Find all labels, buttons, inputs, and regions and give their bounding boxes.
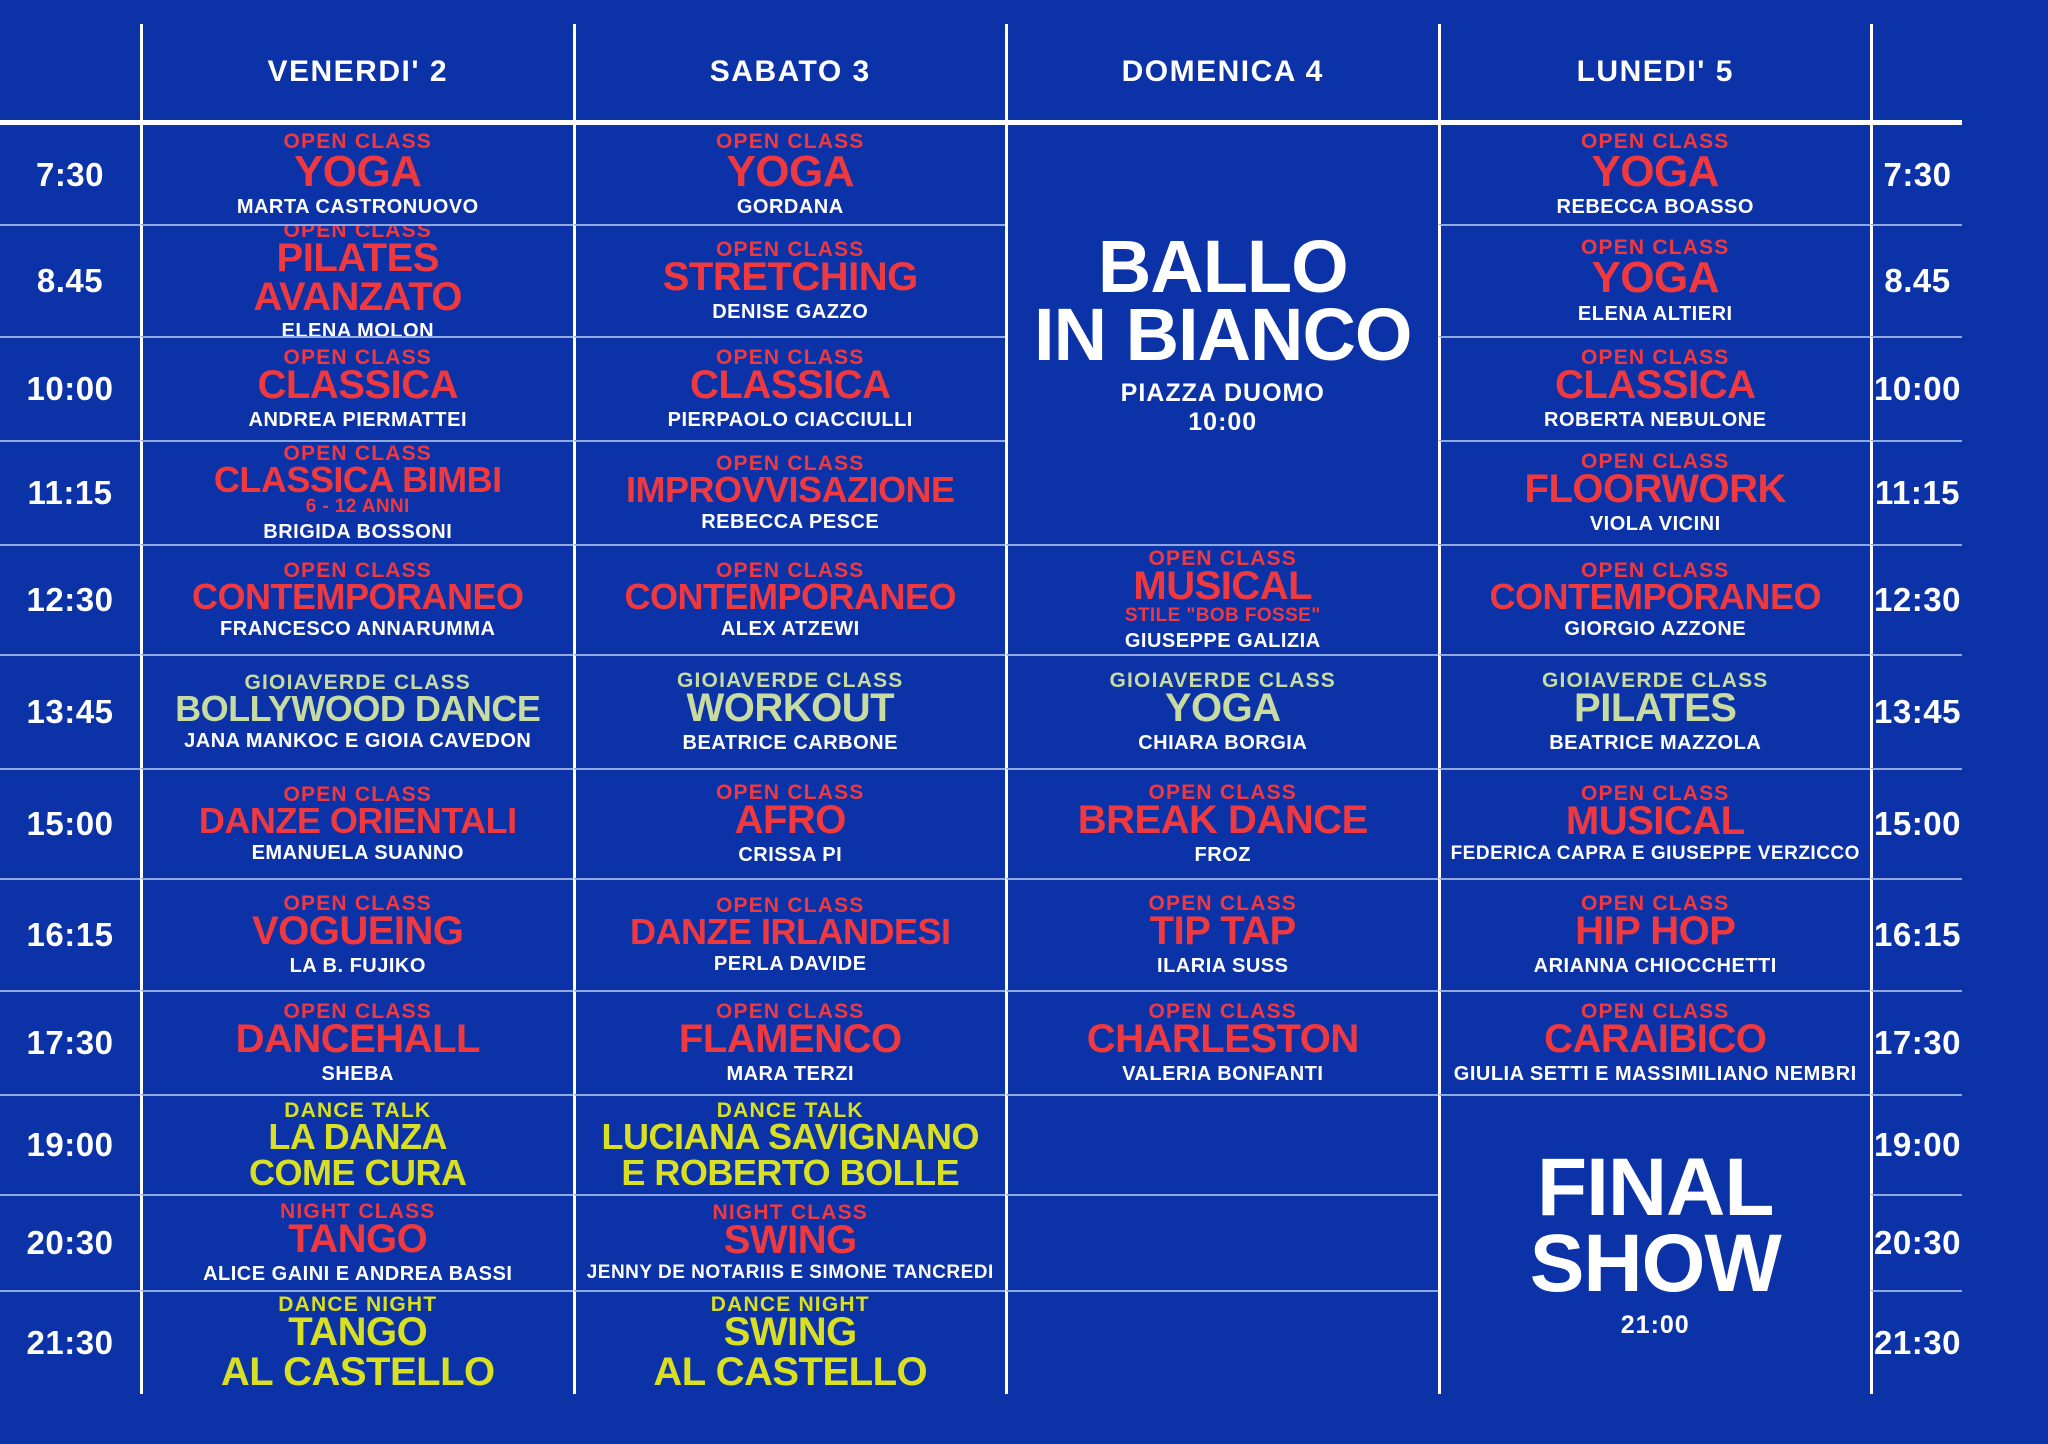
time-label-left: 17:30 bbox=[0, 990, 140, 1094]
class-cell: DANCE NIGHTSWINGAL CASTELLO bbox=[573, 1290, 1006, 1394]
big-title-line1: BALLO bbox=[1098, 233, 1348, 301]
day-header-label: VENERDI' 2 bbox=[267, 55, 448, 89]
time-text: 21:30 bbox=[27, 1324, 114, 1362]
day-header-2: SABATO 3 bbox=[573, 24, 1006, 120]
class-cell: OPEN CLASSPILATESAVANZATOELENA MOLON bbox=[140, 224, 573, 336]
time-text: 19:00 bbox=[1874, 1126, 1961, 1164]
time-label-left: 20:30 bbox=[0, 1194, 140, 1290]
class-cell: OPEN CLASSCARAIBICOGIULIA SETTI E MASSIM… bbox=[1438, 990, 1871, 1094]
class-title: TANGO bbox=[288, 1220, 427, 1259]
class-title: CARAIBICO bbox=[1544, 1020, 1766, 1059]
big-time: 21:00 bbox=[1621, 1311, 1690, 1340]
class-cell: OPEN CLASSHIP HOPARIANNA CHIOCCHETTI bbox=[1438, 878, 1871, 990]
class-title: LUCIANA SAVIGNANO bbox=[602, 1119, 980, 1154]
class-title: MUSICAL bbox=[1133, 567, 1312, 606]
class-teacher: MARTA CASTRONUOVO bbox=[237, 196, 479, 218]
time-label-left: 13:45 bbox=[0, 654, 140, 768]
time-text: 20:30 bbox=[27, 1224, 114, 1262]
class-title-line2: AL CASTELLO bbox=[221, 1353, 495, 1392]
class-teacher: VALERIA BONFANTI bbox=[1122, 1063, 1323, 1085]
class-title: SWING bbox=[724, 1221, 857, 1260]
class-title: YOGA bbox=[1591, 150, 1719, 193]
time-label-right: 13:45 bbox=[1870, 654, 1962, 768]
class-title: PILATES bbox=[1574, 689, 1736, 728]
class-title: CLASSICA bbox=[258, 366, 458, 405]
class-title: FLAMENCO bbox=[679, 1020, 902, 1059]
class-title: HIP HOP bbox=[1575, 912, 1735, 951]
time-label-right: 15:00 bbox=[1870, 768, 1962, 878]
class-teacher: GIUSEPPE GALIZIA bbox=[1125, 630, 1321, 652]
class-cell: DANCE TALKLUCIANA SAVIGNANOE ROBERTO BOL… bbox=[573, 1094, 1006, 1194]
class-teacher: ELENA MOLON bbox=[281, 320, 434, 336]
class-title: STRETCHING bbox=[663, 258, 918, 297]
class-teacher: SHEBA bbox=[321, 1063, 394, 1085]
class-title: CLASSICA BIMBI bbox=[214, 462, 502, 497]
big-time: 10:00 bbox=[1188, 408, 1257, 437]
class-cell: OPEN CLASSAFROCRISSA PI bbox=[573, 768, 1006, 878]
class-cell: OPEN CLASSYOGAMARTA CASTRONUOVO bbox=[140, 120, 573, 224]
class-teacher: VIOLA VICINI bbox=[1590, 513, 1721, 535]
class-teacher: GIORGIO AZZONE bbox=[1564, 618, 1746, 640]
big-title-line2: IN BIANCO bbox=[1034, 301, 1411, 369]
schedule-grid: VENERDI' 2SABATO 3DOMENICA 4LUNEDI' 57:3… bbox=[0, 24, 1962, 1422]
class-cell: GIOIAVERDE CLASSBOLLYWOOD DANCEJANA MANK… bbox=[140, 654, 573, 768]
class-teacher: CHIARA BORGIA bbox=[1138, 732, 1307, 754]
class-title: SWING bbox=[724, 1313, 857, 1352]
class-teacher: BEATRICE CARBONE bbox=[683, 732, 898, 754]
class-title: WORKOUT bbox=[686, 689, 894, 728]
class-cell: DANCE NIGHTTANGOAL CASTELLO bbox=[140, 1290, 573, 1394]
class-cell: OPEN CLASSFLOORWORKVIOLA VICINI bbox=[1438, 440, 1871, 544]
time-label-right: 8.45 bbox=[1870, 224, 1962, 336]
class-title: LA DANZA bbox=[268, 1119, 447, 1154]
header-corner-right bbox=[1870, 24, 1962, 120]
class-title: YOGA bbox=[1591, 256, 1719, 299]
time-label-right: 10:00 bbox=[1870, 336, 1962, 440]
class-cell: OPEN CLASSIMPROVVISAZIONEREBECCA PESCE bbox=[573, 440, 1006, 544]
time-label-right: 11:15 bbox=[1870, 440, 1962, 544]
day-header-4: LUNEDI' 5 bbox=[1438, 24, 1871, 120]
class-teacher: ILARIA SUSS bbox=[1157, 955, 1288, 977]
class-title: PILATES bbox=[277, 239, 439, 278]
class-teacher: BRIGIDA BOSSONI bbox=[263, 521, 452, 543]
time-text: 7:30 bbox=[36, 156, 104, 194]
class-title: CONTEMPORANEO bbox=[1489, 579, 1821, 614]
class-cell: OPEN CLASSTIP TAPILARIA SUSS bbox=[1005, 878, 1438, 990]
class-title: YOGA bbox=[1165, 689, 1281, 728]
class-title: AFRO bbox=[735, 801, 846, 840]
class-teacher: GORDANA bbox=[737, 196, 844, 218]
class-title: CLASSICA bbox=[1555, 366, 1755, 405]
class-teacher: DENISE GAZZO bbox=[712, 301, 868, 323]
time-text: 16:15 bbox=[27, 916, 114, 954]
class-title-line2: AL CASTELLO bbox=[653, 1353, 927, 1392]
class-cell: OPEN CLASSMUSICALSTILE "BOB FOSSE"GIUSEP… bbox=[1005, 544, 1438, 654]
time-label-left: 19:00 bbox=[0, 1094, 140, 1194]
class-title: DANCEHALL bbox=[236, 1020, 480, 1059]
class-title: CONTEMPORANEO bbox=[192, 579, 524, 614]
big-venue: PIAZZA DUOMO bbox=[1121, 379, 1325, 408]
time-text: 17:30 bbox=[1874, 1024, 1961, 1062]
class-teacher: REBECCA PESCE bbox=[701, 511, 879, 533]
class-cell: GIOIAVERDE CLASSWORKOUTBEATRICE CARBONE bbox=[573, 654, 1006, 768]
class-title: CLASSICA bbox=[690, 366, 890, 405]
time-text: 11:15 bbox=[27, 474, 112, 512]
big-title-line1: FINAL bbox=[1537, 1150, 1773, 1225]
class-teacher: BEATRICE MAZZOLA bbox=[1549, 732, 1761, 754]
time-text: 13:45 bbox=[1874, 693, 1961, 731]
class-cell: OPEN CLASSVOGUEINGLA B. FUJIKO bbox=[140, 878, 573, 990]
class-cell: GIOIAVERDE CLASSPILATESBEATRICE MAZZOLA bbox=[1438, 654, 1871, 768]
class-cell: OPEN CLASSCHARLESTONVALERIA BONFANTI bbox=[1005, 990, 1438, 1094]
day-header-3: DOMENICA 4 bbox=[1005, 24, 1438, 120]
class-cell: OPEN CLASSYOGAREBECCA BOASSO bbox=[1438, 120, 1871, 224]
empty-cell bbox=[1005, 1194, 1438, 1290]
class-cell: NIGHT CLASSTANGOALICE GAINI E ANDREA BAS… bbox=[140, 1194, 573, 1290]
day-header-1: VENERDI' 2 bbox=[140, 24, 573, 120]
class-title: IMPROVVISAZIONE bbox=[626, 472, 955, 507]
class-cell: OPEN CLASSSTRETCHINGDENISE GAZZO bbox=[573, 224, 1006, 336]
class-cell: OPEN CLASSCONTEMPORANEOALEX ATZEWI bbox=[573, 544, 1006, 654]
header-corner-left bbox=[0, 24, 140, 120]
time-text: 15:00 bbox=[27, 805, 114, 843]
ballo-in-bianco-block: BALLOIN BIANCOPIAZZA DUOMO10:00 bbox=[1005, 120, 1438, 544]
class-teacher: MARA TERZI bbox=[726, 1063, 854, 1085]
class-teacher: FEDERICA CAPRA E GIUSEPPE VERZICCO bbox=[1451, 844, 1860, 865]
time-label-right: 17:30 bbox=[1870, 990, 1962, 1094]
class-teacher: EMANUELA SUANNO bbox=[252, 842, 464, 864]
schedule-poster: VENERDI' 2SABATO 3DOMENICA 4LUNEDI' 57:3… bbox=[0, 0, 2048, 1444]
class-cell: GIOIAVERDE CLASSYOGACHIARA BORGIA bbox=[1005, 654, 1438, 768]
empty-cell bbox=[1005, 1290, 1438, 1394]
class-teacher: GIULIA SETTI E MASSIMILIANO NEMBRI bbox=[1454, 1063, 1857, 1085]
time-label-left: 12:30 bbox=[0, 544, 140, 654]
class-cell: OPEN CLASSCLASSICAANDREA PIERMATTEI bbox=[140, 336, 573, 440]
time-text: 21:30 bbox=[1874, 1324, 1961, 1362]
final-show-content: FINALSHOW21:00 bbox=[1530, 1098, 1781, 1392]
class-teacher: ARIANNA CHIOCCHETTI bbox=[1534, 955, 1777, 977]
class-teacher: JENNY DE NOTARIIS E SIMONE TANCREDI bbox=[587, 1263, 994, 1284]
big-title-line2: SHOW bbox=[1530, 1226, 1781, 1301]
class-cell: OPEN CLASSFLAMENCOMARA TERZI bbox=[573, 990, 1006, 1094]
time-text: 10:00 bbox=[1874, 370, 1961, 408]
class-cell: OPEN CLASSYOGAGORDANA bbox=[573, 120, 1006, 224]
empty-cell bbox=[1005, 1094, 1438, 1194]
class-cell: OPEN CLASSCLASSICAPIERPAOLO CIACCIULLI bbox=[573, 336, 1006, 440]
class-title: YOGA bbox=[294, 150, 422, 193]
class-teacher: FROZ bbox=[1195, 844, 1251, 866]
class-teacher: FRANCESCO ANNARUMMA bbox=[220, 618, 495, 640]
class-teacher: CRISSA PI bbox=[738, 844, 842, 866]
final-show-block: FINALSHOW21:00 bbox=[1438, 1094, 1871, 1394]
time-label-right: 12:30 bbox=[1870, 544, 1962, 654]
ballo-in-bianco-content: BALLOIN BIANCOPIAZZA DUOMO10:00 bbox=[1034, 127, 1411, 542]
class-teacher: REBECCA BOASSO bbox=[1557, 196, 1754, 218]
class-cell: OPEN CLASSDANZE IRLANDESIPERLA DAVIDE bbox=[573, 878, 1006, 990]
time-text: 8.45 bbox=[1884, 262, 1950, 300]
time-label-right: 21:30 bbox=[1870, 1290, 1962, 1394]
class-title-line2: COME CURA bbox=[249, 1155, 467, 1190]
time-text: 16:15 bbox=[1874, 916, 1961, 954]
day-header-label: LUNEDI' 5 bbox=[1577, 55, 1734, 89]
class-cell: OPEN CLASSCONTEMPORANEOFRANCESCO ANNARUM… bbox=[140, 544, 573, 654]
class-title-line2: AVANZATO bbox=[253, 278, 462, 317]
class-title: TIP TAP bbox=[1150, 912, 1296, 951]
time-text: 20:30 bbox=[1874, 1224, 1961, 1262]
time-label-left: 15:00 bbox=[0, 768, 140, 878]
class-teacher: ALICE GAINI E ANDREA BASSI bbox=[203, 1263, 512, 1285]
class-teacher: PERLA DAVIDE bbox=[714, 953, 867, 975]
time-label-left: 7:30 bbox=[0, 120, 140, 224]
class-cell: DANCE TALKLA DANZACOME CURA bbox=[140, 1094, 573, 1194]
class-cell: OPEN CLASSYOGAELENA ALTIERI bbox=[1438, 224, 1871, 336]
class-title: YOGA bbox=[726, 150, 854, 193]
class-teacher: ROBERTA NEBULONE bbox=[1544, 409, 1766, 431]
class-teacher: JANA MANKOC E GIOIA CAVEDON bbox=[184, 730, 531, 752]
time-text: 13:45 bbox=[27, 693, 114, 731]
time-label-left: 8.45 bbox=[0, 224, 140, 336]
class-cell: OPEN CLASSCLASSICA BIMBI6 - 12 ANNIBRIGI… bbox=[140, 440, 573, 544]
class-cell: OPEN CLASSMUSICALFEDERICA CAPRA E GIUSEP… bbox=[1438, 768, 1871, 878]
time-text: 7:30 bbox=[1883, 156, 1951, 194]
time-text: 11:15 bbox=[1875, 474, 1960, 512]
class-cell: OPEN CLASSCONTEMPORANEOGIORGIO AZZONE bbox=[1438, 544, 1871, 654]
time-label-right: 19:00 bbox=[1870, 1094, 1962, 1194]
class-title: CONTEMPORANEO bbox=[624, 579, 956, 614]
time-label-left: 10:00 bbox=[0, 336, 140, 440]
time-label-left: 16:15 bbox=[0, 878, 140, 990]
class-teacher: ANDREA PIERMATTEI bbox=[249, 409, 468, 431]
class-teacher: ALEX ATZEWI bbox=[721, 618, 860, 640]
class-title: BREAK DANCE bbox=[1078, 801, 1368, 840]
time-text: 10:00 bbox=[27, 370, 114, 408]
class-title: CHARLESTON bbox=[1087, 1020, 1359, 1059]
time-text: 15:00 bbox=[1874, 805, 1961, 843]
class-title: TANGO bbox=[288, 1313, 427, 1352]
class-cell: OPEN CLASSBREAK DANCEFROZ bbox=[1005, 768, 1438, 878]
class-title: DANZE IRLANDESI bbox=[630, 914, 951, 949]
time-text: 19:00 bbox=[27, 1126, 114, 1164]
class-subtitle: 6 - 12 ANNI bbox=[306, 497, 410, 518]
class-title-line2: E ROBERTO BOLLE bbox=[621, 1155, 959, 1190]
class-title: VOGUEING bbox=[252, 912, 464, 951]
class-teacher: ELENA ALTIERI bbox=[1578, 303, 1733, 325]
class-title: DANZE ORIENTALI bbox=[199, 803, 517, 838]
day-header-label: DOMENICA 4 bbox=[1122, 55, 1324, 89]
time-label-left: 21:30 bbox=[0, 1290, 140, 1394]
class-teacher: LA B. FUJIKO bbox=[290, 955, 426, 977]
class-title: MUSICAL bbox=[1566, 802, 1745, 841]
time-text: 17:30 bbox=[27, 1024, 114, 1062]
day-header-label: SABATO 3 bbox=[710, 55, 871, 89]
time-text: 12:30 bbox=[1874, 581, 1961, 619]
class-cell: OPEN CLASSCLASSICAROBERTA NEBULONE bbox=[1438, 336, 1871, 440]
class-cell: OPEN CLASSDANCEHALLSHEBA bbox=[140, 990, 573, 1094]
time-label-left: 11:15 bbox=[0, 440, 140, 544]
time-label-right: 20:30 bbox=[1870, 1194, 1962, 1290]
class-title: FLOORWORK bbox=[1525, 470, 1786, 509]
time-text: 12:30 bbox=[27, 581, 114, 619]
class-title: BOLLYWOOD DANCE bbox=[175, 691, 540, 726]
class-cell: OPEN CLASSDANZE ORIENTALIEMANUELA SUANNO bbox=[140, 768, 573, 878]
class-cell: NIGHT CLASSSWINGJENNY DE NOTARIIS E SIMO… bbox=[573, 1194, 1006, 1290]
time-label-right: 16:15 bbox=[1870, 878, 1962, 990]
time-label-right: 7:30 bbox=[1870, 120, 1962, 224]
time-text: 8.45 bbox=[37, 262, 103, 300]
class-teacher: PIERPAOLO CIACCIULLI bbox=[668, 409, 913, 431]
class-subtitle: STILE "BOB FOSSE" bbox=[1125, 606, 1321, 627]
